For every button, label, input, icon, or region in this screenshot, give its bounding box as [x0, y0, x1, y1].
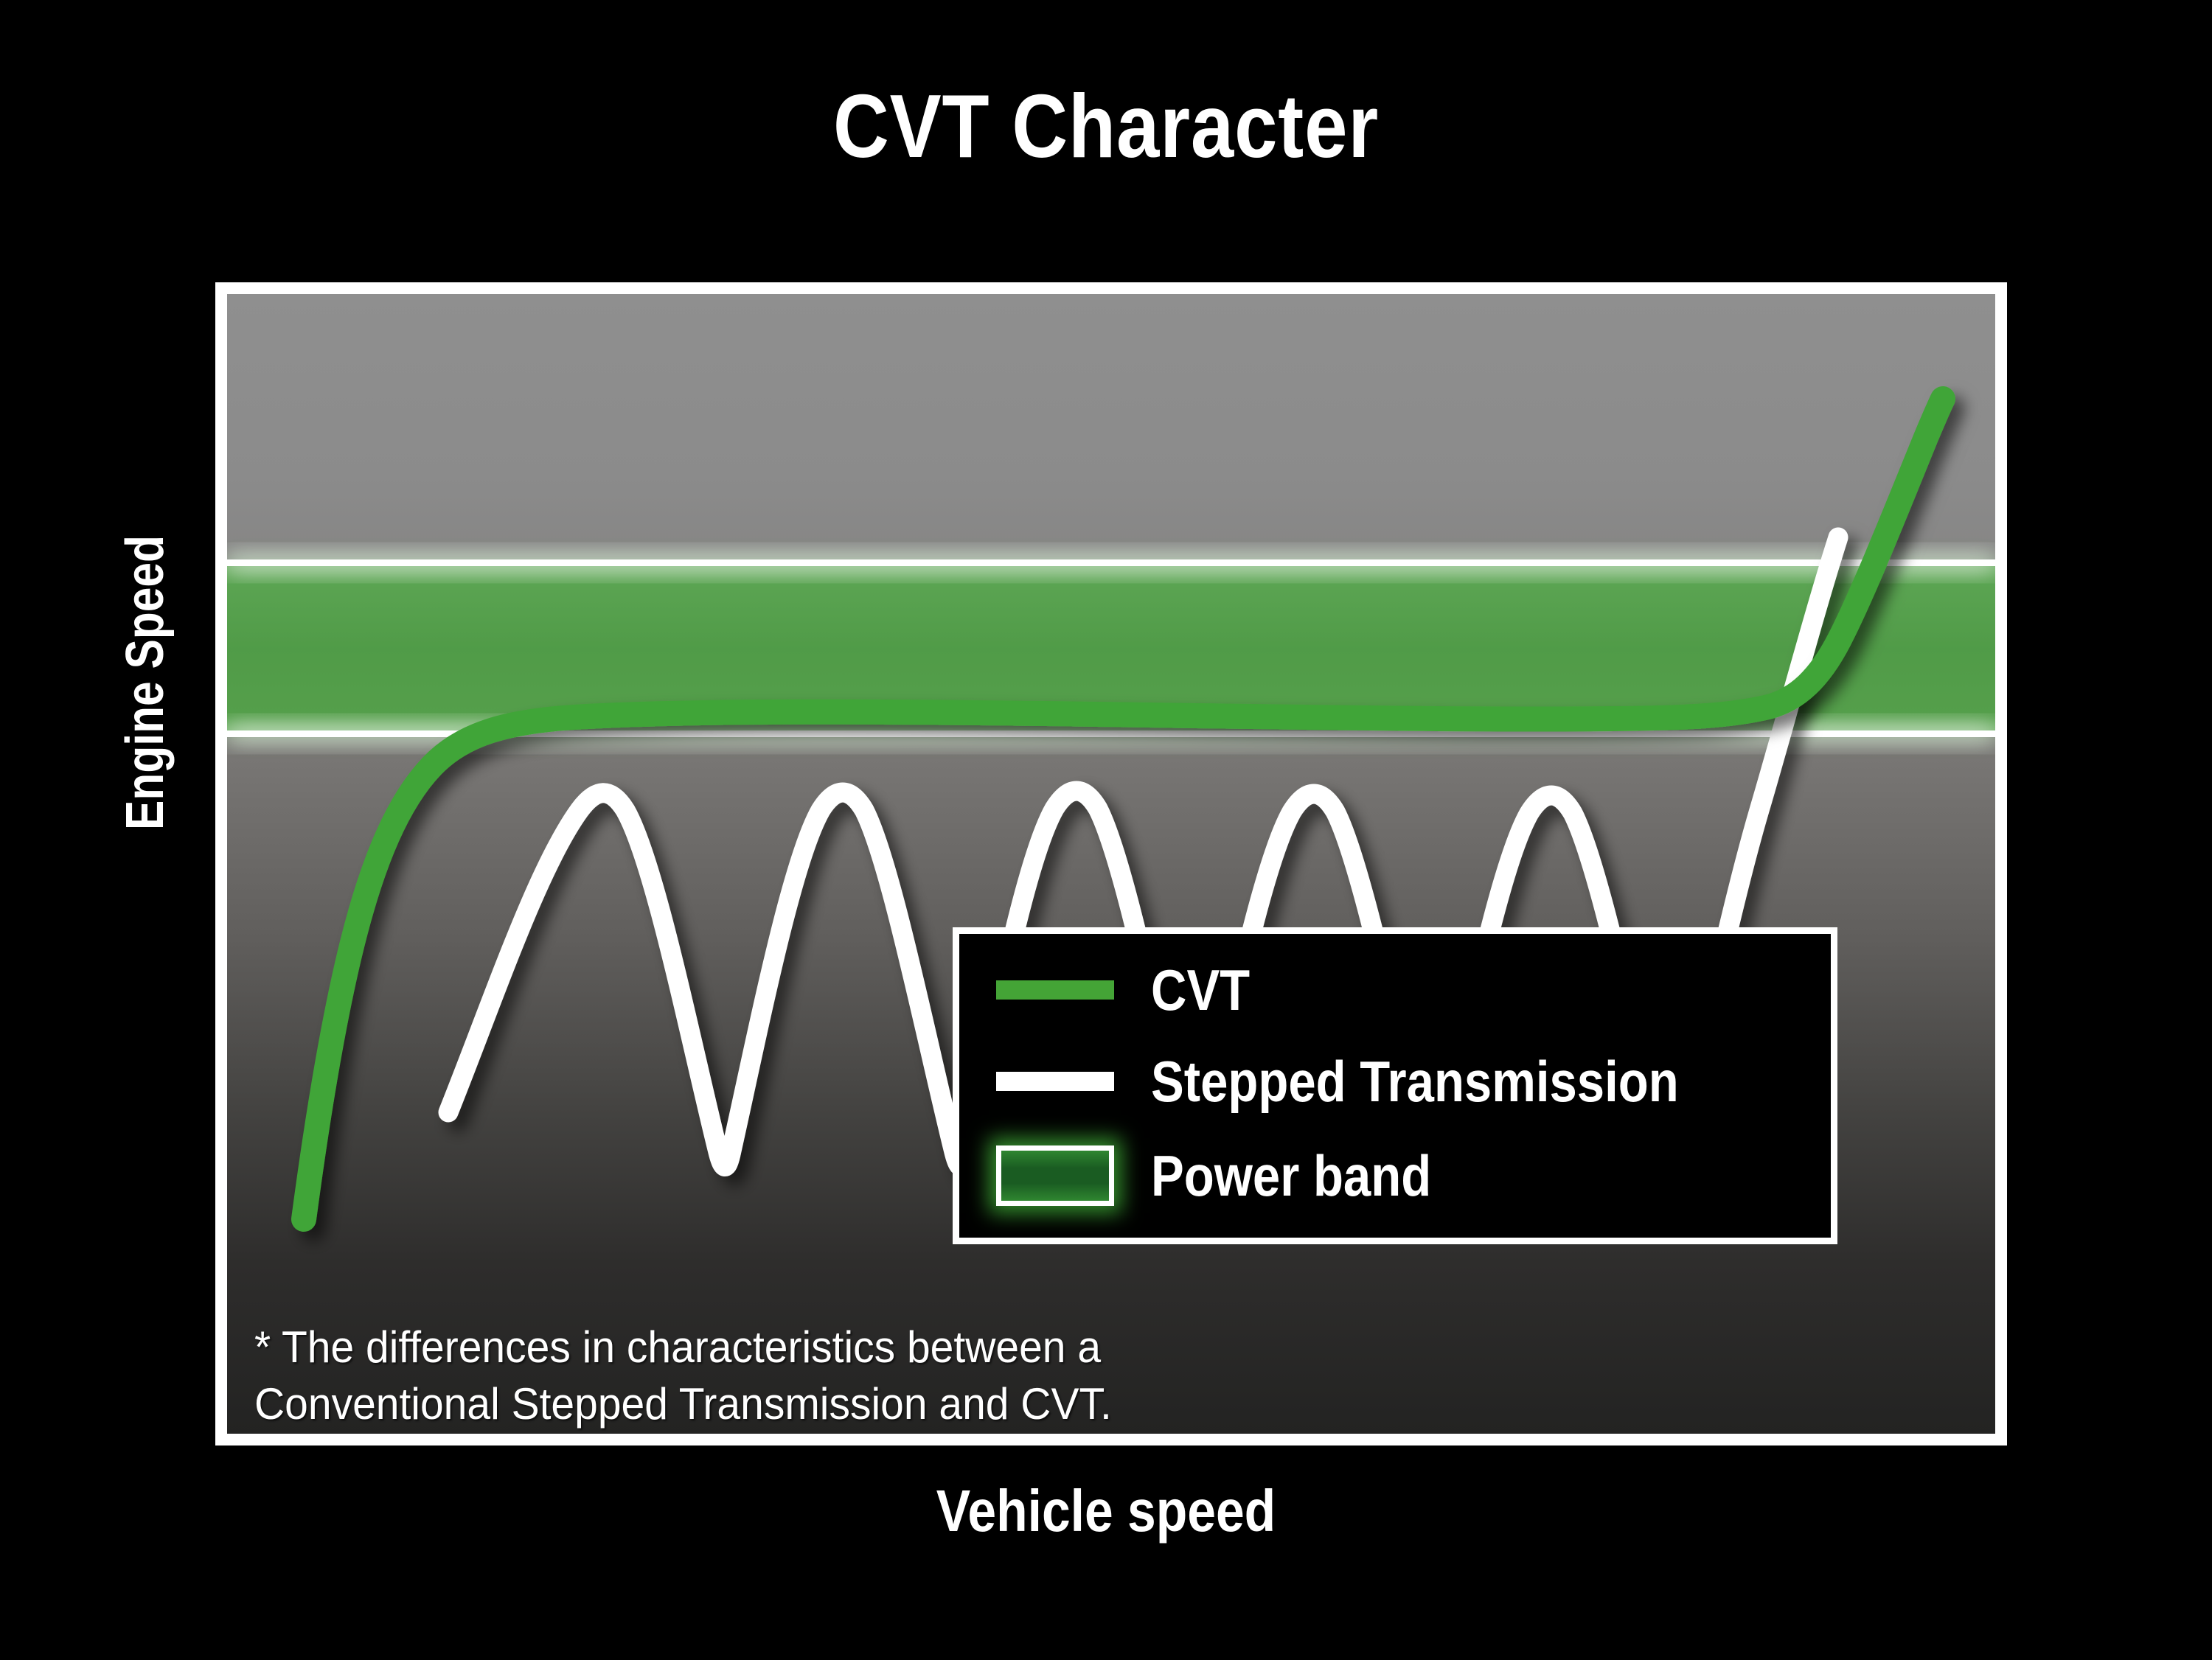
plot-frame — [215, 282, 2007, 1445]
footnote-text: * The differences in characteristics bet… — [254, 1319, 1112, 1433]
plot-svg — [227, 294, 1995, 1434]
legend-swatch-cell — [959, 1145, 1151, 1206]
legend-label-cvt: CVT — [1151, 961, 1250, 1019]
page-title: CVT Character — [155, 81, 2057, 171]
legend-item-power-band[interactable]: Power band — [959, 1131, 1831, 1220]
legend-swatch-cell — [959, 1072, 1151, 1091]
legend-label-stepped-transmission: Stepped Transmission — [1151, 1053, 1679, 1110]
legend-swatch-cell — [959, 980, 1151, 1000]
y-axis-label: Engine Speed — [119, 491, 172, 875]
power-band-swatch-icon — [996, 1145, 1114, 1206]
stepped-line-swatch-icon — [996, 1072, 1114, 1091]
plot-area — [227, 294, 1995, 1434]
legend-label-power-band: Power band — [1151, 1147, 1431, 1204]
power-band-top-edge — [227, 559, 1995, 566]
cvt-line-swatch-icon — [996, 980, 1114, 1000]
legend-box: CVT Stepped Transmission Power band — [953, 927, 1837, 1244]
x-axis-label: Vehicle speed — [330, 1482, 1882, 1541]
legend-item-cvt[interactable]: CVT — [959, 946, 1831, 1034]
legend-item-stepped-transmission[interactable]: Stepped Transmission — [959, 1037, 1831, 1126]
